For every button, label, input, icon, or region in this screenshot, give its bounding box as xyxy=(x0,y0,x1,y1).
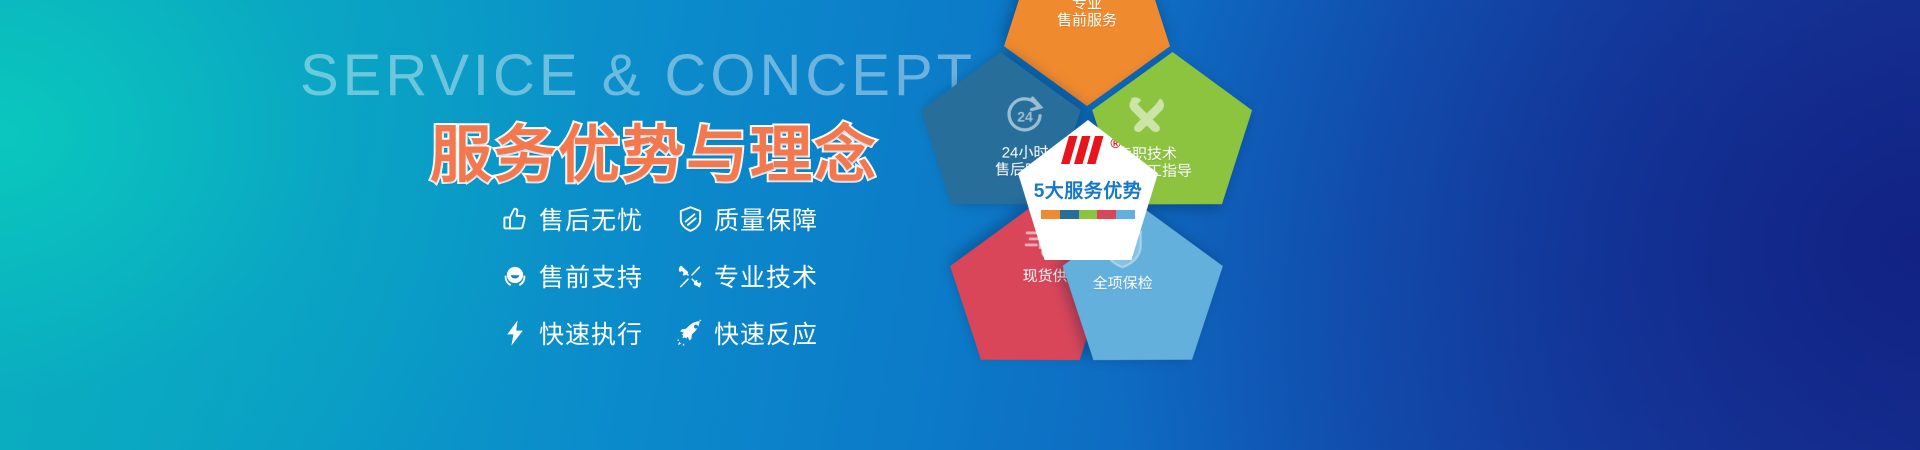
color-bar-segment-darkblue xyxy=(1060,210,1079,219)
service-concept-banner: SERVICE & CONCEPT 服务优势与理念 售后无忧 xyxy=(0,0,1920,450)
feature-item-fast-exec: 快速执行 xyxy=(500,315,675,351)
banner-text-block: SERVICE & CONCEPT 服务优势与理念 售后无忧 xyxy=(0,0,900,450)
feature-label: 快速反应 xyxy=(714,315,818,351)
feature-row: 快速执行 快速反应 xyxy=(500,304,860,361)
feature-item-tech: 专业技术 xyxy=(675,258,860,294)
feature-item-fast-response: 快速反应 xyxy=(675,315,860,351)
thumbs-up-icon xyxy=(500,204,530,234)
brand-logo: ® xyxy=(1055,134,1120,170)
feature-label: 专业技术 xyxy=(714,258,818,294)
shield-check-icon xyxy=(675,204,705,234)
clock-24-icon: 24 xyxy=(1000,94,1050,145)
feature-label: 售前支持 xyxy=(539,258,643,294)
color-bar-segment-red xyxy=(1097,210,1116,219)
feature-label: 售后无忧 xyxy=(539,201,643,237)
center-title: 5大服务优势 xyxy=(1034,176,1143,203)
headset-support-icon xyxy=(500,261,530,291)
feature-row: 售前支持 专业技术 xyxy=(500,247,860,304)
feature-item-pre-sales: 售前支持 xyxy=(500,258,675,294)
svg-text:24: 24 xyxy=(1017,109,1033,125)
petal-label-line1: 专业 xyxy=(1072,0,1102,12)
color-bar-segment-lightblue xyxy=(1116,210,1135,219)
feature-label: 质量保障 xyxy=(714,201,818,237)
feature-item-quality: 质量保障 xyxy=(675,201,860,237)
color-bar-segment-orange xyxy=(1041,210,1060,219)
page-title: 服务优势与理念 xyxy=(430,104,878,194)
wrench-screwdriver-icon xyxy=(675,261,705,291)
petal-label-line2: 售前服务 xyxy=(1057,12,1117,29)
feature-row: 售后无忧 质量保障 xyxy=(500,190,860,247)
color-bar xyxy=(1041,210,1135,219)
feature-label: 快速执行 xyxy=(539,315,643,351)
petal-label-line1: 全项保检 xyxy=(1093,275,1153,292)
lightning-bolt-icon xyxy=(500,318,530,348)
five-advantages-diagram: 专业 售前服务 24 24小时 售后响应 xyxy=(900,0,1920,450)
english-title: SERVICE & CONCEPT xyxy=(300,42,976,109)
feature-list: 售后无忧 质量保障 xyxy=(500,190,860,361)
color-bar-segment-green xyxy=(1079,210,1098,219)
rocket-icon xyxy=(675,318,705,348)
feature-item-after-sales: 售后无忧 xyxy=(500,201,675,237)
wrench-cross-icon xyxy=(1123,95,1171,146)
three-bars-logo-icon xyxy=(1055,134,1109,170)
